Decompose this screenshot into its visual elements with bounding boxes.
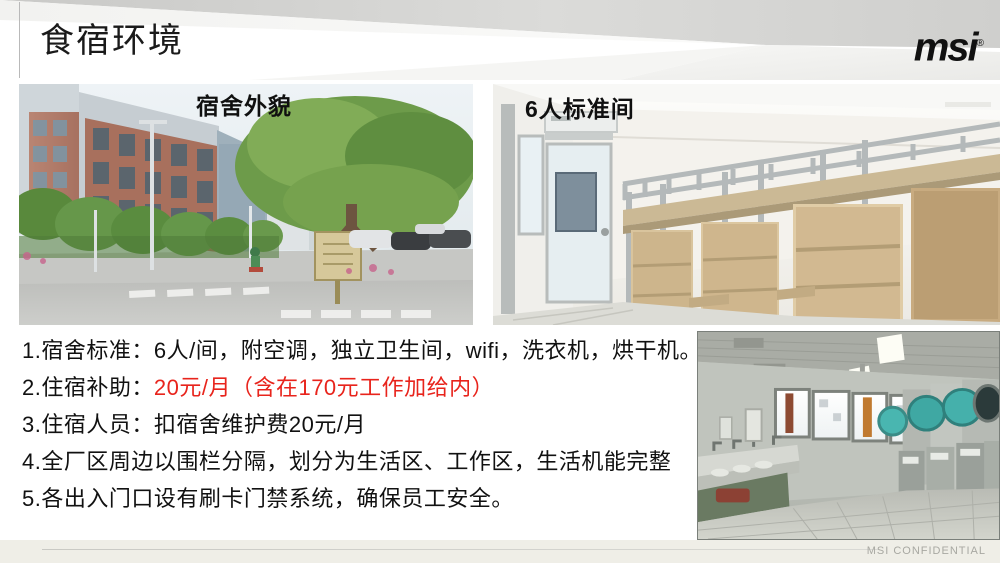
- line-1-label: 宿舍标准：: [41, 338, 154, 363]
- line-4-number: 4.: [22, 449, 41, 474]
- line-3-number: 3.: [22, 412, 41, 437]
- line-5-number: 5.: [22, 486, 41, 511]
- caption-dorm-room: 6人标准间: [525, 90, 635, 124]
- line-2-number: 2.: [22, 375, 41, 400]
- msi-logo: msi®: [914, 22, 984, 69]
- text-line-1: 1.宿舍标准：6人/间，附空调，独立卫生间，wifi，洗衣机，烘干机。: [22, 332, 712, 369]
- line-1-number: 1.: [22, 338, 41, 363]
- body-text-block: 1.宿舍标准：6人/间，附空调，独立卫生间，wifi，洗衣机，烘干机。 2.住宿…: [22, 332, 712, 517]
- line-1-value: 6人/间，附空调，独立卫生间，wifi，洗衣机，烘干机。: [154, 338, 702, 363]
- slide-canvas: 食宿环境 msi®: [0, 0, 1000, 563]
- msi-logo-text: msi: [914, 25, 977, 69]
- line-2-label: 住宿补助：: [41, 375, 154, 400]
- line-3-label: 住宿人员：: [41, 412, 154, 437]
- page-title: 食宿环境: [40, 21, 184, 61]
- text-line-2: 2.住宿补助：20元/月（含在170元工作加给内）: [22, 369, 712, 406]
- title-divider-rule: [19, 2, 20, 78]
- line-5-value: 各出入门口设有刷卡门禁系统，确保员工安全。: [41, 486, 514, 511]
- text-line-4: 4.全厂区周边以围栏分隔，划分为生活区、工作区，生活机能完整: [22, 443, 712, 480]
- text-line-3: 3.住宿人员：扣宿舍维护费20元/月: [22, 406, 712, 443]
- line-4-value: 全厂区周边以围栏分隔，划分为生活区、工作区，生活机能完整: [41, 449, 671, 474]
- line-3-value: 扣宿舍维护费20元/月: [154, 412, 366, 437]
- line-2-value-highlighted: 20元/月（含在170元工作加给内）: [154, 375, 494, 400]
- slide-header: 食宿环境 msi®: [0, 0, 1000, 80]
- slide-footer: MSI CONFIDENTIAL: [0, 540, 1000, 563]
- laundry-room-illustration: [698, 332, 999, 539]
- confidential-label: MSI CONFIDENTIAL: [867, 543, 986, 559]
- text-line-5: 5.各出入门口设有刷卡门禁系统，确保员工安全。: [22, 480, 712, 517]
- registered-trademark-icon: ®: [977, 38, 984, 49]
- photo-laundry-room: [697, 331, 1000, 540]
- footer-divider-rule: [42, 549, 880, 550]
- caption-dorm-exterior: 宿舍外貌: [196, 87, 292, 121]
